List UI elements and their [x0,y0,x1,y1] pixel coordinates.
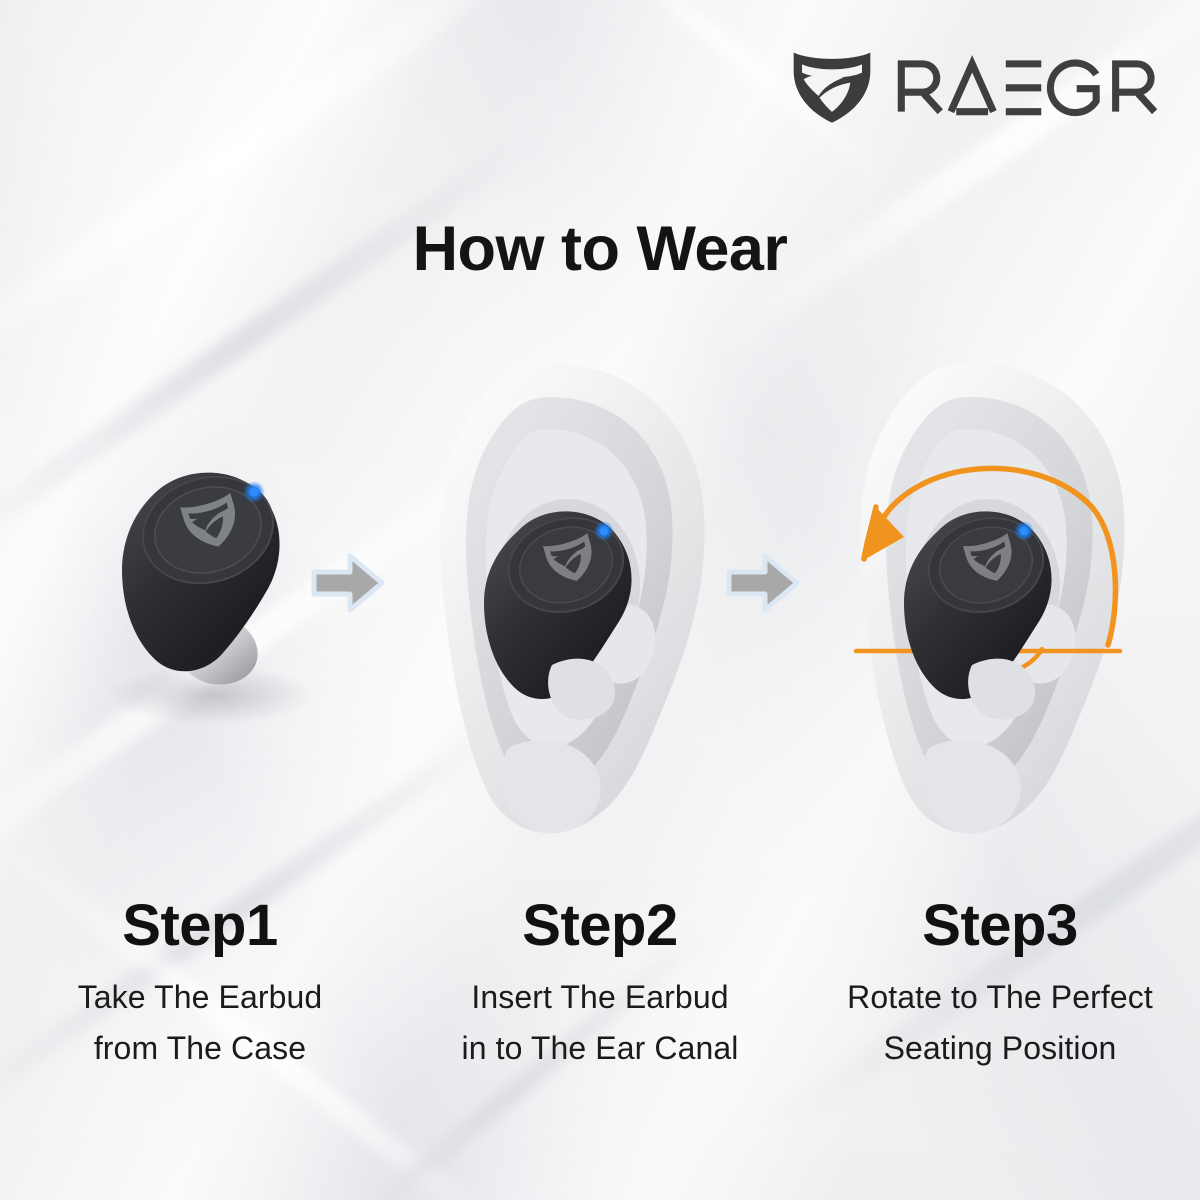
raegr-shield-icon [790,46,874,126]
how-to-wear-infographic: How to Wear [0,0,1200,1200]
step-2-line-2: in to The Ear Canal [414,1023,786,1075]
step-3-heading: Step3 [814,895,1186,958]
steps-captions: Step1 Take The Earbud from The Case Step… [0,895,1200,1075]
step-1-caption: Step1 Take The Earbud from The Case [0,895,400,1075]
raegr-wordmark [896,55,1162,117]
step-2-line-1: Insert The Earbud [414,972,786,1024]
step-2-caption: Step2 Insert The Earbud in to The Ear Ca… [400,895,800,1075]
step-3-caption: Step3 Rotate to The Perfect Seating Posi… [800,895,1200,1075]
step-3-line-1: Rotate to The Perfect [814,972,1186,1024]
page-title: How to Wear [0,218,1200,281]
brand-logo [790,46,1162,126]
step-1-heading: Step1 [14,895,386,958]
step-1-line-2: from The Case [14,1023,386,1075]
step-2-heading: Step2 [414,895,786,958]
step-3-line-2: Seating Position [814,1023,1186,1075]
step-1-line-1: Take The Earbud [14,972,386,1024]
